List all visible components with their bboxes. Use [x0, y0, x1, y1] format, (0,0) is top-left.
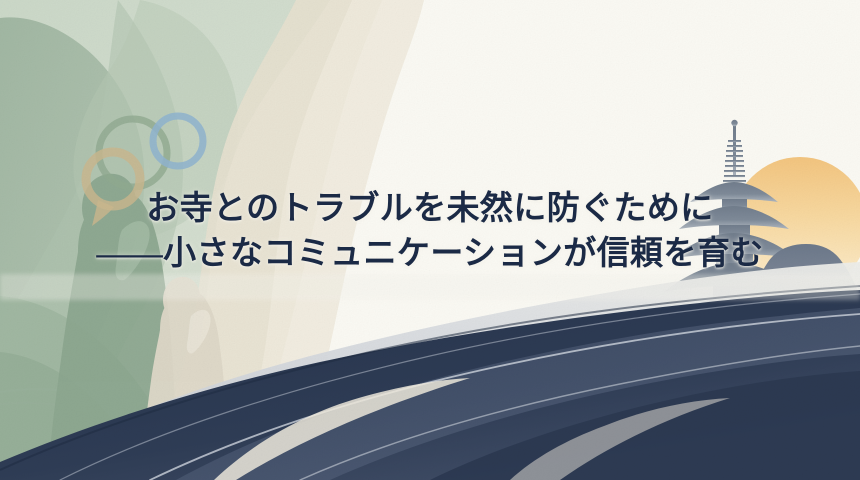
pagoda-sorin-jewel	[731, 120, 737, 126]
background-illustration	[0, 0, 860, 480]
hero-banner: お寺とのトラブルを未然に防ぐために ——小さなコミュニケーションが信頼を育む	[0, 0, 860, 480]
horizon-haze	[0, 274, 860, 300]
